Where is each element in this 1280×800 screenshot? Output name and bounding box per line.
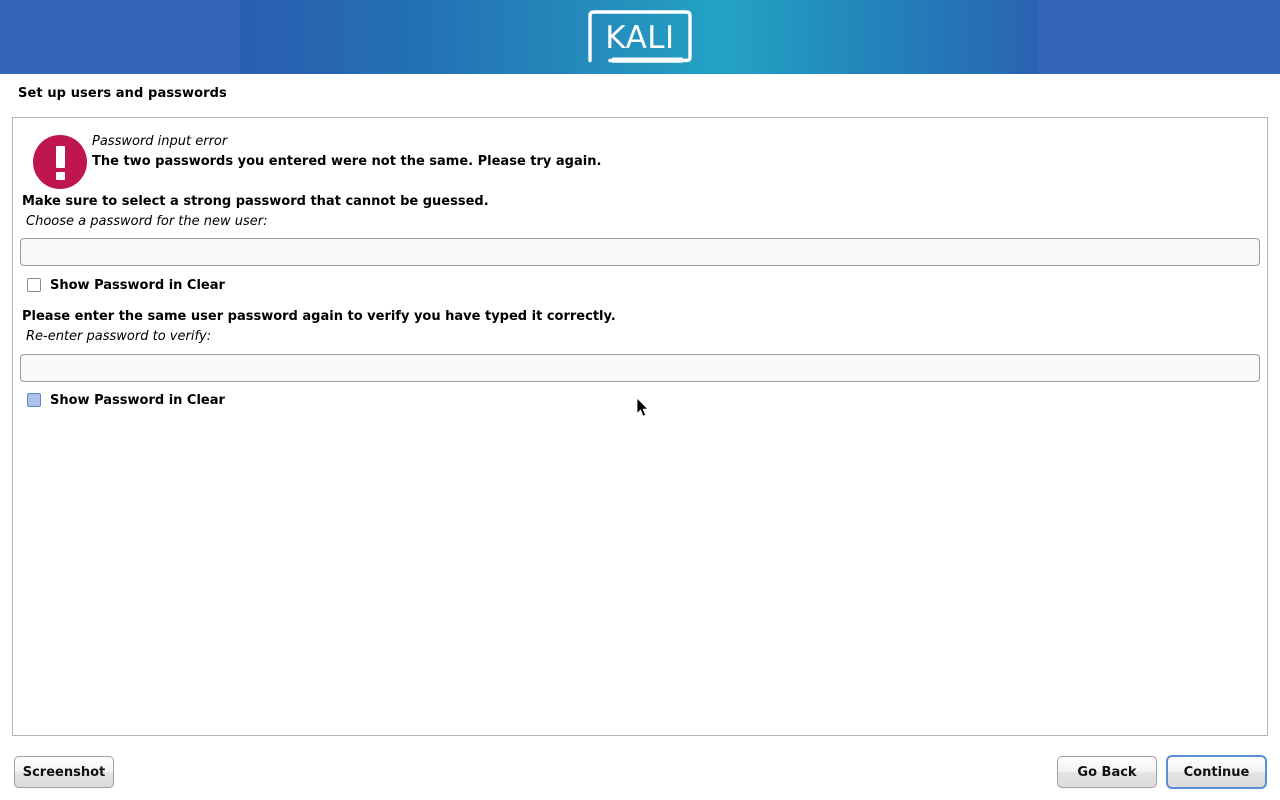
go-back-button[interactable]: Go Back xyxy=(1057,756,1157,788)
verify-hint: Please enter the same user password agai… xyxy=(22,309,616,324)
show-password-checkbox-2[interactable] xyxy=(27,393,41,407)
page-title: Set up users and passwords xyxy=(18,86,227,101)
show-password-checkbox-1[interactable] xyxy=(27,278,41,292)
show-password-in-clear-row-2[interactable]: Show Password in Clear xyxy=(27,391,225,409)
installer-banner: KALI xyxy=(0,0,1280,74)
password-field-label: Choose a password for the new user: xyxy=(26,214,268,229)
exclamation-bar xyxy=(56,146,65,168)
show-password-in-clear-row-1[interactable]: Show Password in Clear xyxy=(27,276,225,294)
main-content-panel: Password input error The two passwords y… xyxy=(12,117,1268,736)
error-exclamation-icon xyxy=(33,135,87,189)
exclamation-dot xyxy=(56,172,65,180)
screenshot-button[interactable]: Screenshot xyxy=(14,756,114,788)
continue-button[interactable]: Continue xyxy=(1166,755,1267,789)
svg-text:KALI: KALI xyxy=(605,20,674,56)
password-hint: Make sure to select a strong password th… xyxy=(22,194,489,209)
error-message: The two passwords you entered were not t… xyxy=(92,154,601,169)
verify-field-label: Re-enter password to verify: xyxy=(26,329,211,344)
error-title: Password input error xyxy=(92,134,227,149)
error-notice: Password input error The two passwords y… xyxy=(22,126,1252,186)
show-password-label-2: Show Password in Clear xyxy=(50,393,225,408)
verify-password-input[interactable] xyxy=(20,354,1260,382)
show-password-label-1: Show Password in Clear xyxy=(50,278,225,293)
kali-logo-icon: KALI xyxy=(583,9,697,65)
password-input[interactable] xyxy=(20,238,1260,266)
